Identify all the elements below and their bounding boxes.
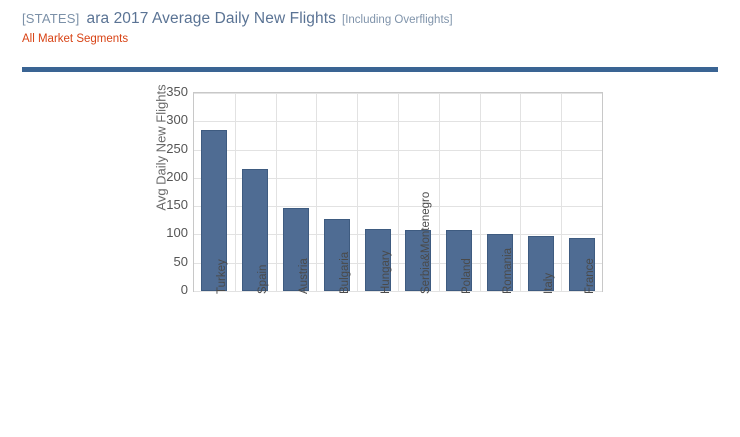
chart-header: [STATES]ara 2017 Average Daily New Fligh… <box>22 10 722 46</box>
gridline-vertical <box>316 93 317 291</box>
gridline-vertical <box>439 93 440 291</box>
y-axis-tick-label: 150 <box>144 197 188 212</box>
x-axis-tick-label: Bulgaria <box>340 252 351 294</box>
x-axis-tick-label: Spain <box>258 265 269 294</box>
y-axis-tick-label: 0 <box>144 282 188 297</box>
y-axis-tick-label: 50 <box>144 254 188 269</box>
y-axis-tick-label: 200 <box>144 169 188 184</box>
y-axis-tick-label: 300 <box>144 112 188 127</box>
page-title: ara 2017 Average Daily New Flights <box>86 10 336 27</box>
title-note: [Including Overflights] <box>342 14 453 26</box>
y-axis-tick-label: 100 <box>144 225 188 240</box>
y-axis-tick-label: 250 <box>144 141 188 156</box>
bar-chart: Avg Daily New Flights 050100150200250300… <box>0 80 740 430</box>
gridline-vertical <box>398 93 399 291</box>
x-axis-tick-label: Poland <box>462 258 473 294</box>
x-axis-tick-label: Serbia&Montenegro <box>421 192 432 294</box>
header-divider <box>22 67 718 72</box>
x-axis-tick-label: Italy <box>544 273 555 294</box>
x-axis-tick-label: Hungary <box>381 251 392 294</box>
gridline-vertical <box>480 93 481 291</box>
plot-area <box>193 92 603 292</box>
chart-subtitle: All Market Segments <box>22 32 722 46</box>
gridline-vertical <box>235 93 236 291</box>
x-axis-tick-label: Austria <box>299 258 310 294</box>
x-axis-tick-label: France <box>585 258 596 294</box>
gridline-vertical <box>520 93 521 291</box>
x-axis-tick-label: Romania <box>503 248 514 294</box>
gridline-horizontal <box>194 291 602 292</box>
y-axis-tick-label: 350 <box>144 84 188 99</box>
gridline-vertical <box>561 93 562 291</box>
gridline-vertical <box>357 93 358 291</box>
x-axis-tick-label: Turkey <box>217 259 228 294</box>
gridline-vertical <box>276 93 277 291</box>
title-scope: [STATES] <box>22 11 79 26</box>
y-axis-ticks: 050100150200250300350 <box>144 92 188 290</box>
chart-title-line: [STATES]ara 2017 Average Daily New Fligh… <box>22 10 722 29</box>
